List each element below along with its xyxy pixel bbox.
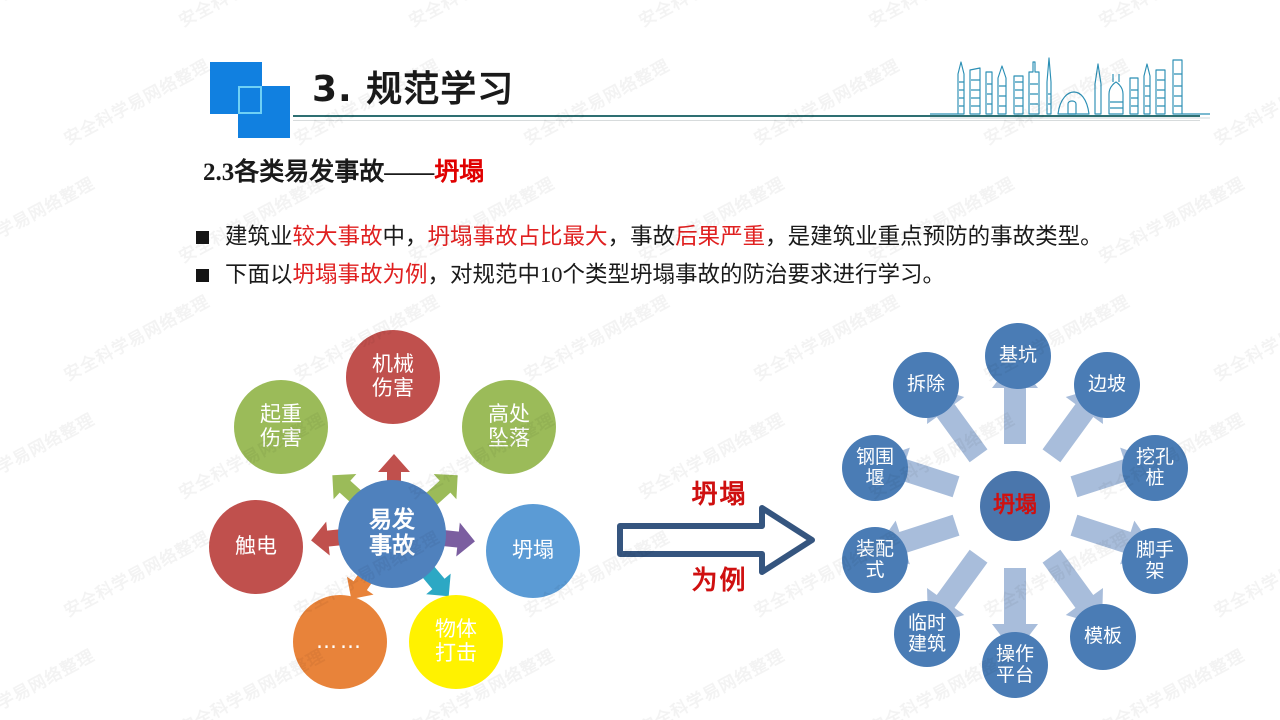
- right-center-node[interactable]: 坍塌: [980, 471, 1050, 541]
- text-segment: 建筑业: [225, 224, 293, 249]
- node-ellipsis[interactable]: ……: [293, 595, 387, 689]
- subtitle-prefix: 2.3各类易发事故——: [203, 159, 434, 186]
- text-segment: ，是建筑业重点预防的事故类型。: [765, 224, 1103, 249]
- text-segment: ，对规范中10个类型坍塌事故的防治要求进行学习。: [428, 262, 946, 287]
- node-label-line: 脚手: [1136, 540, 1174, 561]
- node-bianpo[interactable]: 边坡: [1074, 352, 1140, 418]
- node-qizhong-shanghai[interactable]: 起重 伤害: [234, 380, 328, 474]
- watermark-text: 安全科学易网络整理: [59, 523, 214, 621]
- node-label-line: 物体: [435, 618, 477, 642]
- left-center-node[interactable]: 易发 事故: [338, 480, 446, 588]
- node-jiaoshoujia[interactable]: 脚手 架: [1122, 528, 1188, 594]
- node-label-line: 伤害: [260, 427, 302, 451]
- node-label-line: 拆除: [907, 374, 945, 395]
- text-segment: ，事故: [608, 224, 676, 249]
- text-segment-highlight: 较大事故: [293, 224, 383, 249]
- node-chudian[interactable]: 触电: [209, 500, 303, 594]
- node-label-line: 桩: [1136, 468, 1174, 489]
- node-label-line: 坍塌: [512, 539, 554, 563]
- node-label-line: 触电: [235, 535, 277, 559]
- left-center-line-2: 事故: [369, 534, 415, 560]
- bullet-text-1: 建筑业较大事故中，坍塌事故占比最大，事故后果严重，是建筑业重点预防的事故类型。: [225, 220, 1103, 253]
- node-gaochu-zhuiluo[interactable]: 高处 坠落: [462, 380, 556, 474]
- node-linshi-jianzhu[interactable]: 临时 建筑: [894, 601, 960, 667]
- node-label-line: 坠落: [488, 427, 530, 451]
- node-jixie-shanghai[interactable]: 机械 伤害: [346, 330, 440, 424]
- right-collapse-types-diagram: 坍塌 基坑 边坡 挖孔 桩 脚手 架 模板: [820, 310, 1220, 710]
- watermark-text: 安全科学易网络整理: [0, 169, 98, 267]
- page-title: 3. 规范学习: [312, 60, 514, 112]
- overlapping-squares-logo-icon: [210, 62, 296, 138]
- node-label-line: 模板: [1084, 626, 1122, 647]
- node-label-line: 挖孔: [1136, 447, 1174, 468]
- bullet-text-2: 下面以坍塌事故为例，对规范中10个类型坍塌事故的防治要求进行学习。: [225, 258, 945, 291]
- watermark-text: 安全科学易网络整理: [634, 641, 789, 720]
- subtitle-highlight: 坍塌: [434, 159, 484, 186]
- list-item: 建筑业较大事故中，坍塌事故占比最大，事故后果严重，是建筑业重点预防的事故类型。: [196, 220, 1266, 253]
- left-center-line-1: 易发: [369, 508, 415, 534]
- slide-header: 3. 规范学习: [0, 0, 1280, 150]
- text-segment: 中，: [383, 224, 428, 249]
- text-segment-highlight: 坍塌事故占比最大: [428, 224, 608, 249]
- node-label-line: 架: [1136, 561, 1174, 582]
- node-caozuo-pingtai[interactable]: 操作 平台: [982, 632, 1048, 698]
- node-label-line: 装配: [856, 539, 894, 560]
- node-label-line: 建筑: [908, 634, 946, 655]
- node-label-line: 堰: [856, 468, 894, 489]
- city-skyline-icon: [930, 48, 1210, 120]
- node-label-line: 伤害: [372, 377, 414, 401]
- list-item: 下面以坍塌事故为例，对规范中10个类型坍塌事故的防治要求进行学习。: [196, 258, 1266, 291]
- node-zhuangpeishi[interactable]: 装配 式: [842, 527, 908, 593]
- node-label-line: 式: [856, 560, 894, 581]
- node-label-line: 起重: [260, 403, 302, 427]
- node-label-line: 平台: [996, 665, 1034, 686]
- section-subtitle: 2.3各类易发事故——坍塌: [203, 152, 484, 188]
- node-label-line: 临时: [908, 613, 946, 634]
- node-chaichu[interactable]: 拆除: [893, 352, 959, 418]
- node-muban[interactable]: 模板: [1070, 604, 1136, 670]
- node-gangweiyan[interactable]: 钢围 堰: [842, 435, 908, 501]
- text-segment-highlight: 后果严重: [675, 224, 765, 249]
- text-segment: 下面以: [225, 262, 293, 287]
- node-tanta[interactable]: 坍塌: [486, 504, 580, 598]
- watermark-text: 安全科学易网络整理: [0, 405, 98, 503]
- header-divider-secondary: [293, 120, 1200, 121]
- node-label-line: 机械: [372, 353, 414, 377]
- node-label-line: 基坑: [999, 345, 1037, 366]
- watermark-text: 安全科学易网络整理: [0, 641, 98, 720]
- node-label-line: 打击: [435, 642, 477, 666]
- text-segment-highlight: 坍塌事故为例: [293, 262, 428, 287]
- watermark-text: 安全科学易网络整理: [59, 287, 214, 385]
- node-jikeng[interactable]: 基坑: [985, 323, 1051, 389]
- node-label-line: ……: [316, 630, 364, 654]
- slide-canvas: 3. 规范学习: [0, 0, 1280, 720]
- square-bullet-icon: [196, 269, 209, 282]
- square-bullet-icon: [196, 231, 209, 244]
- transition-label-bottom: 为例: [612, 560, 827, 597]
- right-center-label: 坍塌: [993, 494, 1037, 519]
- bullet-list: 建筑业较大事故中，坍塌事故占比最大，事故后果严重，是建筑业重点预防的事故类型。 …: [196, 220, 1266, 296]
- node-label-line: 边坡: [1088, 374, 1126, 395]
- node-label-line: 操作: [996, 644, 1034, 665]
- node-wuti-daji[interactable]: 物体 打击: [409, 595, 503, 689]
- node-label-line: 钢围: [856, 447, 894, 468]
- left-accident-wheel-diagram: 易发 事故 机械 伤害 高处 坠落 坍塌 物体: [196, 312, 606, 702]
- node-label-line: 高处: [488, 403, 530, 427]
- node-wakongzhuang[interactable]: 挖孔 桩: [1122, 435, 1188, 501]
- transition-arrow: 坍塌 为例: [612, 468, 827, 613]
